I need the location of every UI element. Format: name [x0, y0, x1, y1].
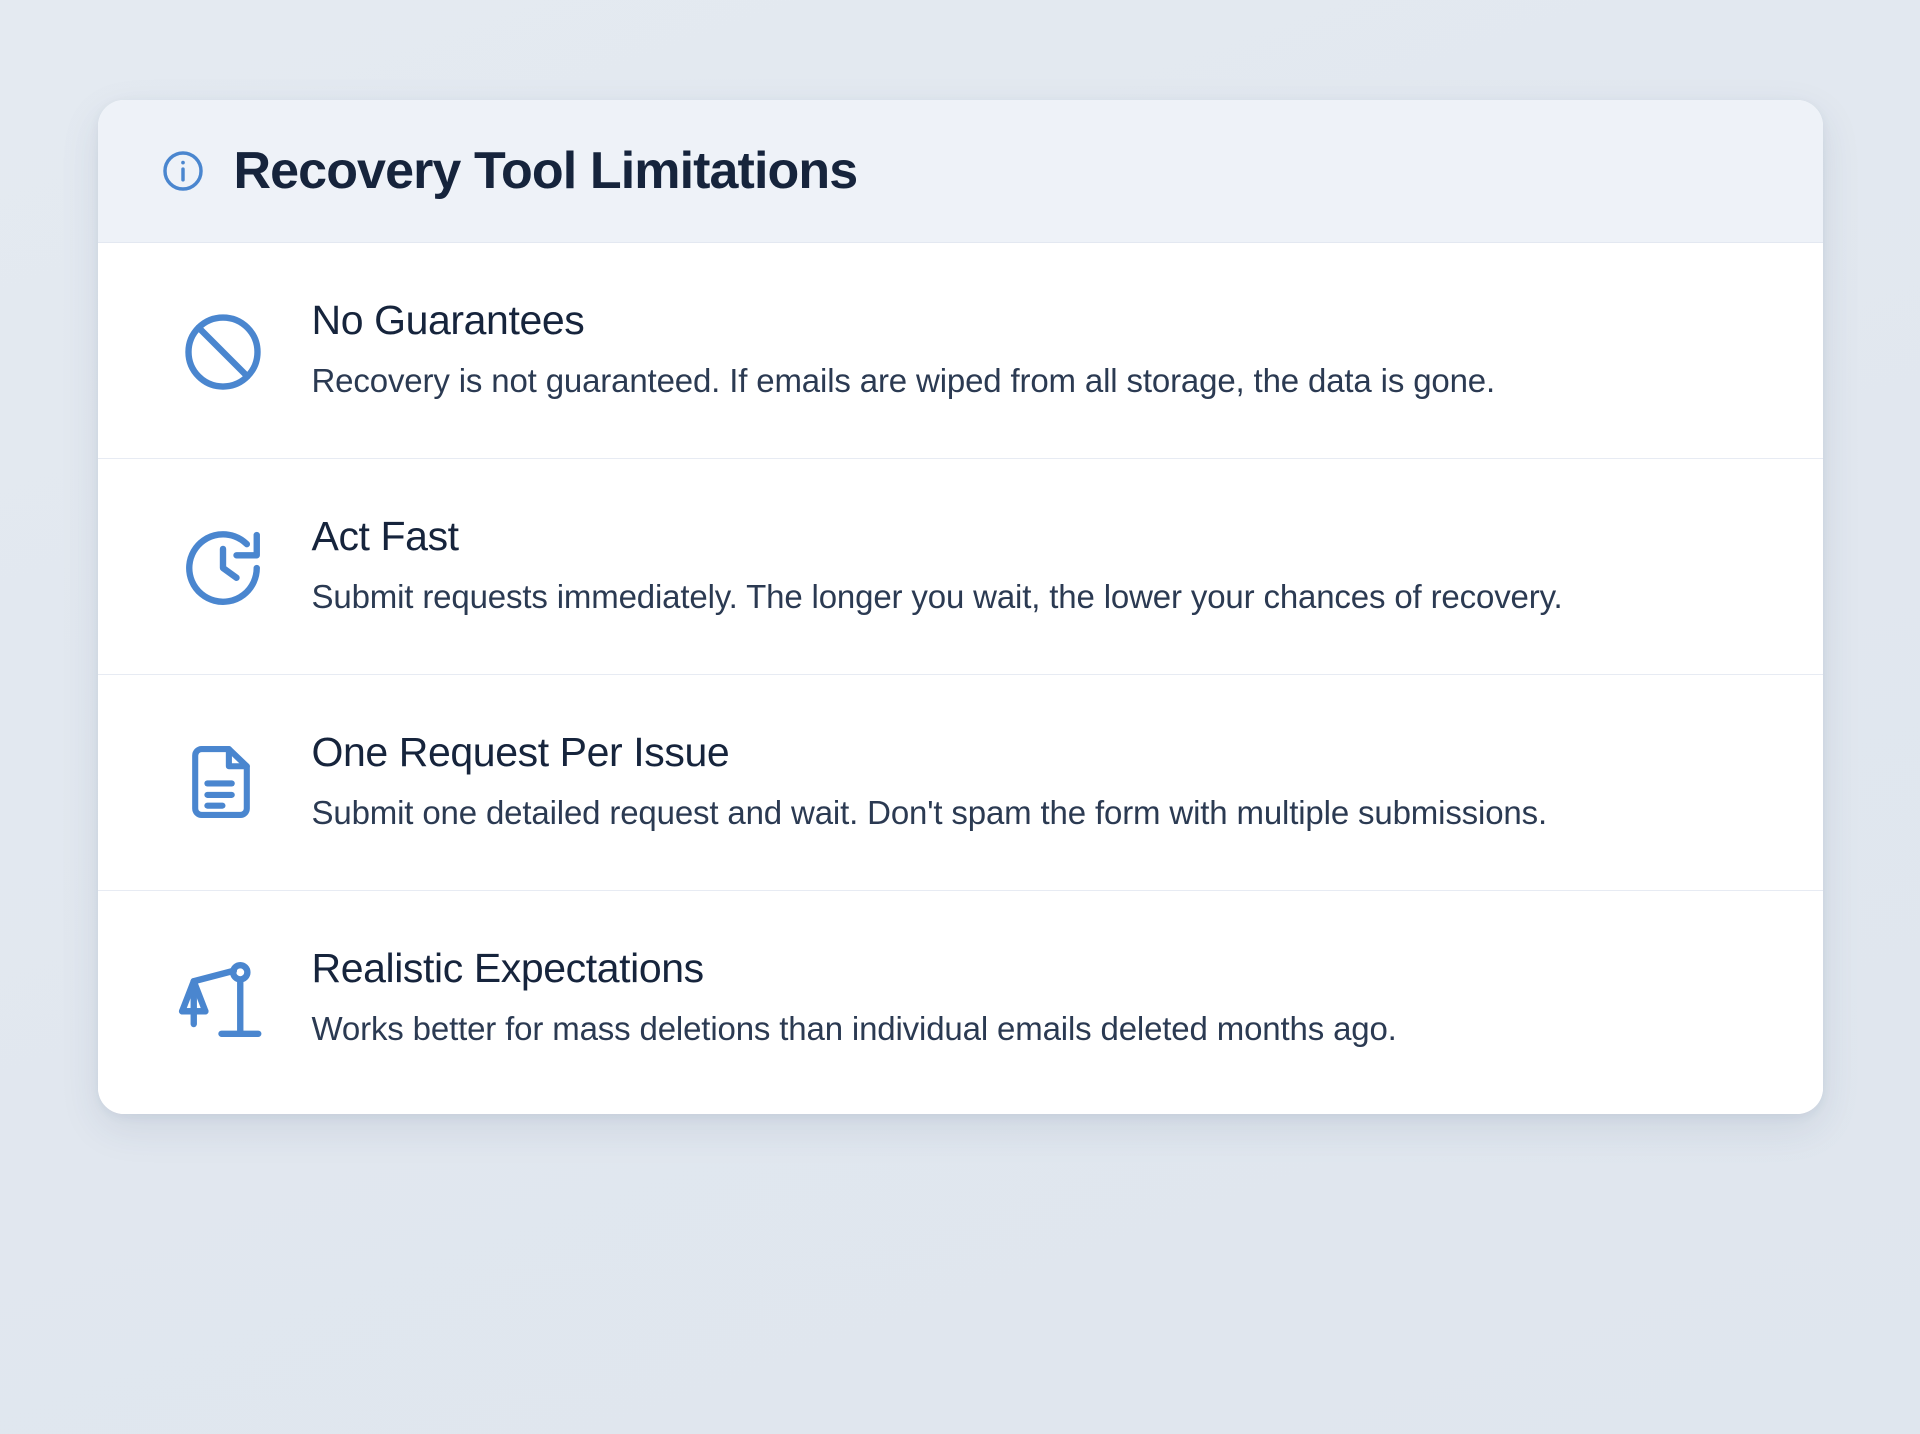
list-item-description: Submit requests immediately. The longer …	[312, 574, 1701, 620]
limitations-list: No Guarantees Recovery is not guaranteed…	[98, 243, 1823, 1114]
info-circle-icon	[160, 148, 206, 194]
balance-scales-icon	[160, 945, 272, 1045]
list-item: One Request Per Issue Submit one detaile…	[98, 675, 1823, 891]
list-item-title: No Guarantees	[312, 297, 1701, 344]
list-item-description: Works better for mass deletions than ind…	[312, 1006, 1701, 1052]
clock-rotate-icon	[160, 513, 272, 613]
list-item: Act Fast Submit requests immediately. Th…	[98, 459, 1823, 675]
list-item: Realistic Expectations Works better for …	[98, 891, 1823, 1114]
list-item-title: One Request Per Issue	[312, 729, 1701, 776]
document-lines-icon	[160, 729, 272, 825]
page-background: Recovery Tool Limitations No Guarantees …	[0, 0, 1920, 1434]
list-item-title: Act Fast	[312, 513, 1701, 560]
list-item-description: Recovery is not guaranteed. If emails ar…	[312, 358, 1701, 404]
page-title: Recovery Tool Limitations	[234, 144, 858, 198]
list-item-description: Submit one detailed request and wait. Do…	[312, 790, 1701, 836]
list-item: No Guarantees Recovery is not guaranteed…	[98, 243, 1823, 459]
list-item-title: Realistic Expectations	[312, 945, 1701, 992]
list-item-body: Realistic Expectations Works better for …	[272, 945, 1761, 1052]
prohibition-icon	[160, 297, 272, 397]
limitations-card: Recovery Tool Limitations No Guarantees …	[98, 100, 1823, 1114]
list-item-body: No Guarantees Recovery is not guaranteed…	[272, 297, 1761, 404]
list-item-body: One Request Per Issue Submit one detaile…	[272, 729, 1761, 836]
list-item-body: Act Fast Submit requests immediately. Th…	[272, 513, 1761, 620]
card-header: Recovery Tool Limitations	[98, 100, 1823, 243]
